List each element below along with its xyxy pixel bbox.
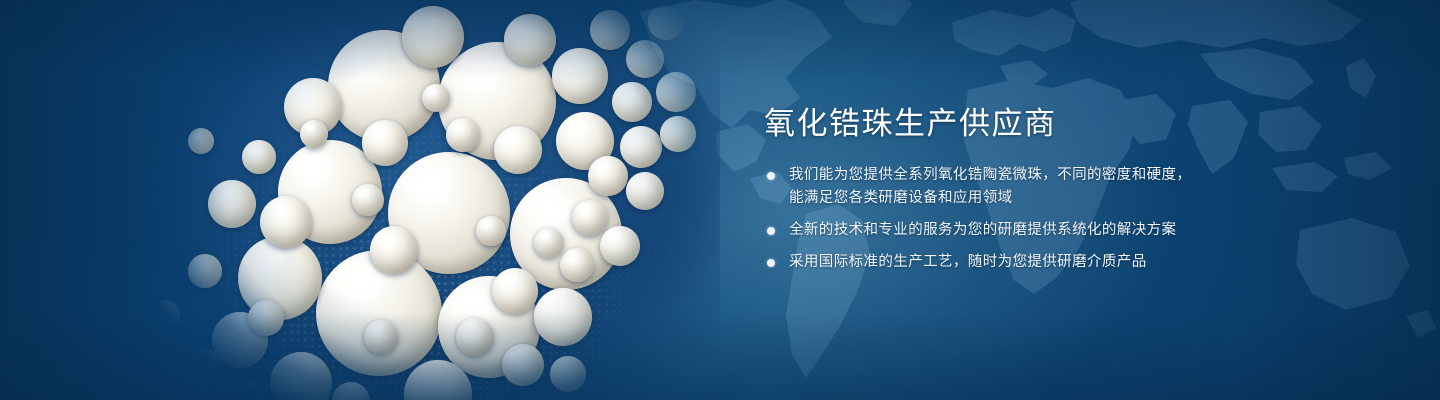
list-item-line: 全新的技术和专业的服务为您的研磨提供系统化的解决方案 <box>789 219 1324 242</box>
zirconia-beads-photo <box>120 0 720 400</box>
list-item: 采用国际标准的生产工艺，随时为您提供研磨介质产品 <box>764 251 1324 274</box>
bullet-dot-icon <box>767 259 775 267</box>
hero-banner: 氧化锆珠生产供应商 我们能为您提供全系列氧化锆陶瓷微珠，不同的密度和硬度， 能满… <box>0 0 1440 400</box>
list-item: 全新的技术和专业的服务为您的研磨提供系统化的解决方案 <box>764 219 1324 242</box>
banner-content: 氧化锆珠生产供应商 我们能为您提供全系列氧化锆陶瓷微珠，不同的密度和硬度， 能满… <box>764 104 1324 274</box>
list-item-line: 我们能为您提供全系列氧化锆陶瓷微珠，不同的密度和硬度， <box>789 164 1324 187</box>
feature-list: 我们能为您提供全系列氧化锆陶瓷微珠，不同的密度和硬度， 能满足您各类研磨设备和应… <box>764 164 1324 274</box>
list-item-line: 能满足您各类研磨设备和应用领域 <box>789 187 1324 210</box>
list-item: 我们能为您提供全系列氧化锆陶瓷微珠，不同的密度和硬度， 能满足您各类研磨设备和应… <box>764 164 1324 210</box>
bullet-dot-icon <box>767 227 775 235</box>
page-title: 氧化锆珠生产供应商 <box>764 104 1324 144</box>
list-item-line: 采用国际标准的生产工艺，随时为您提供研磨介质产品 <box>789 251 1324 274</box>
bullet-dot-icon <box>767 172 775 180</box>
bead-cluster <box>120 0 720 400</box>
